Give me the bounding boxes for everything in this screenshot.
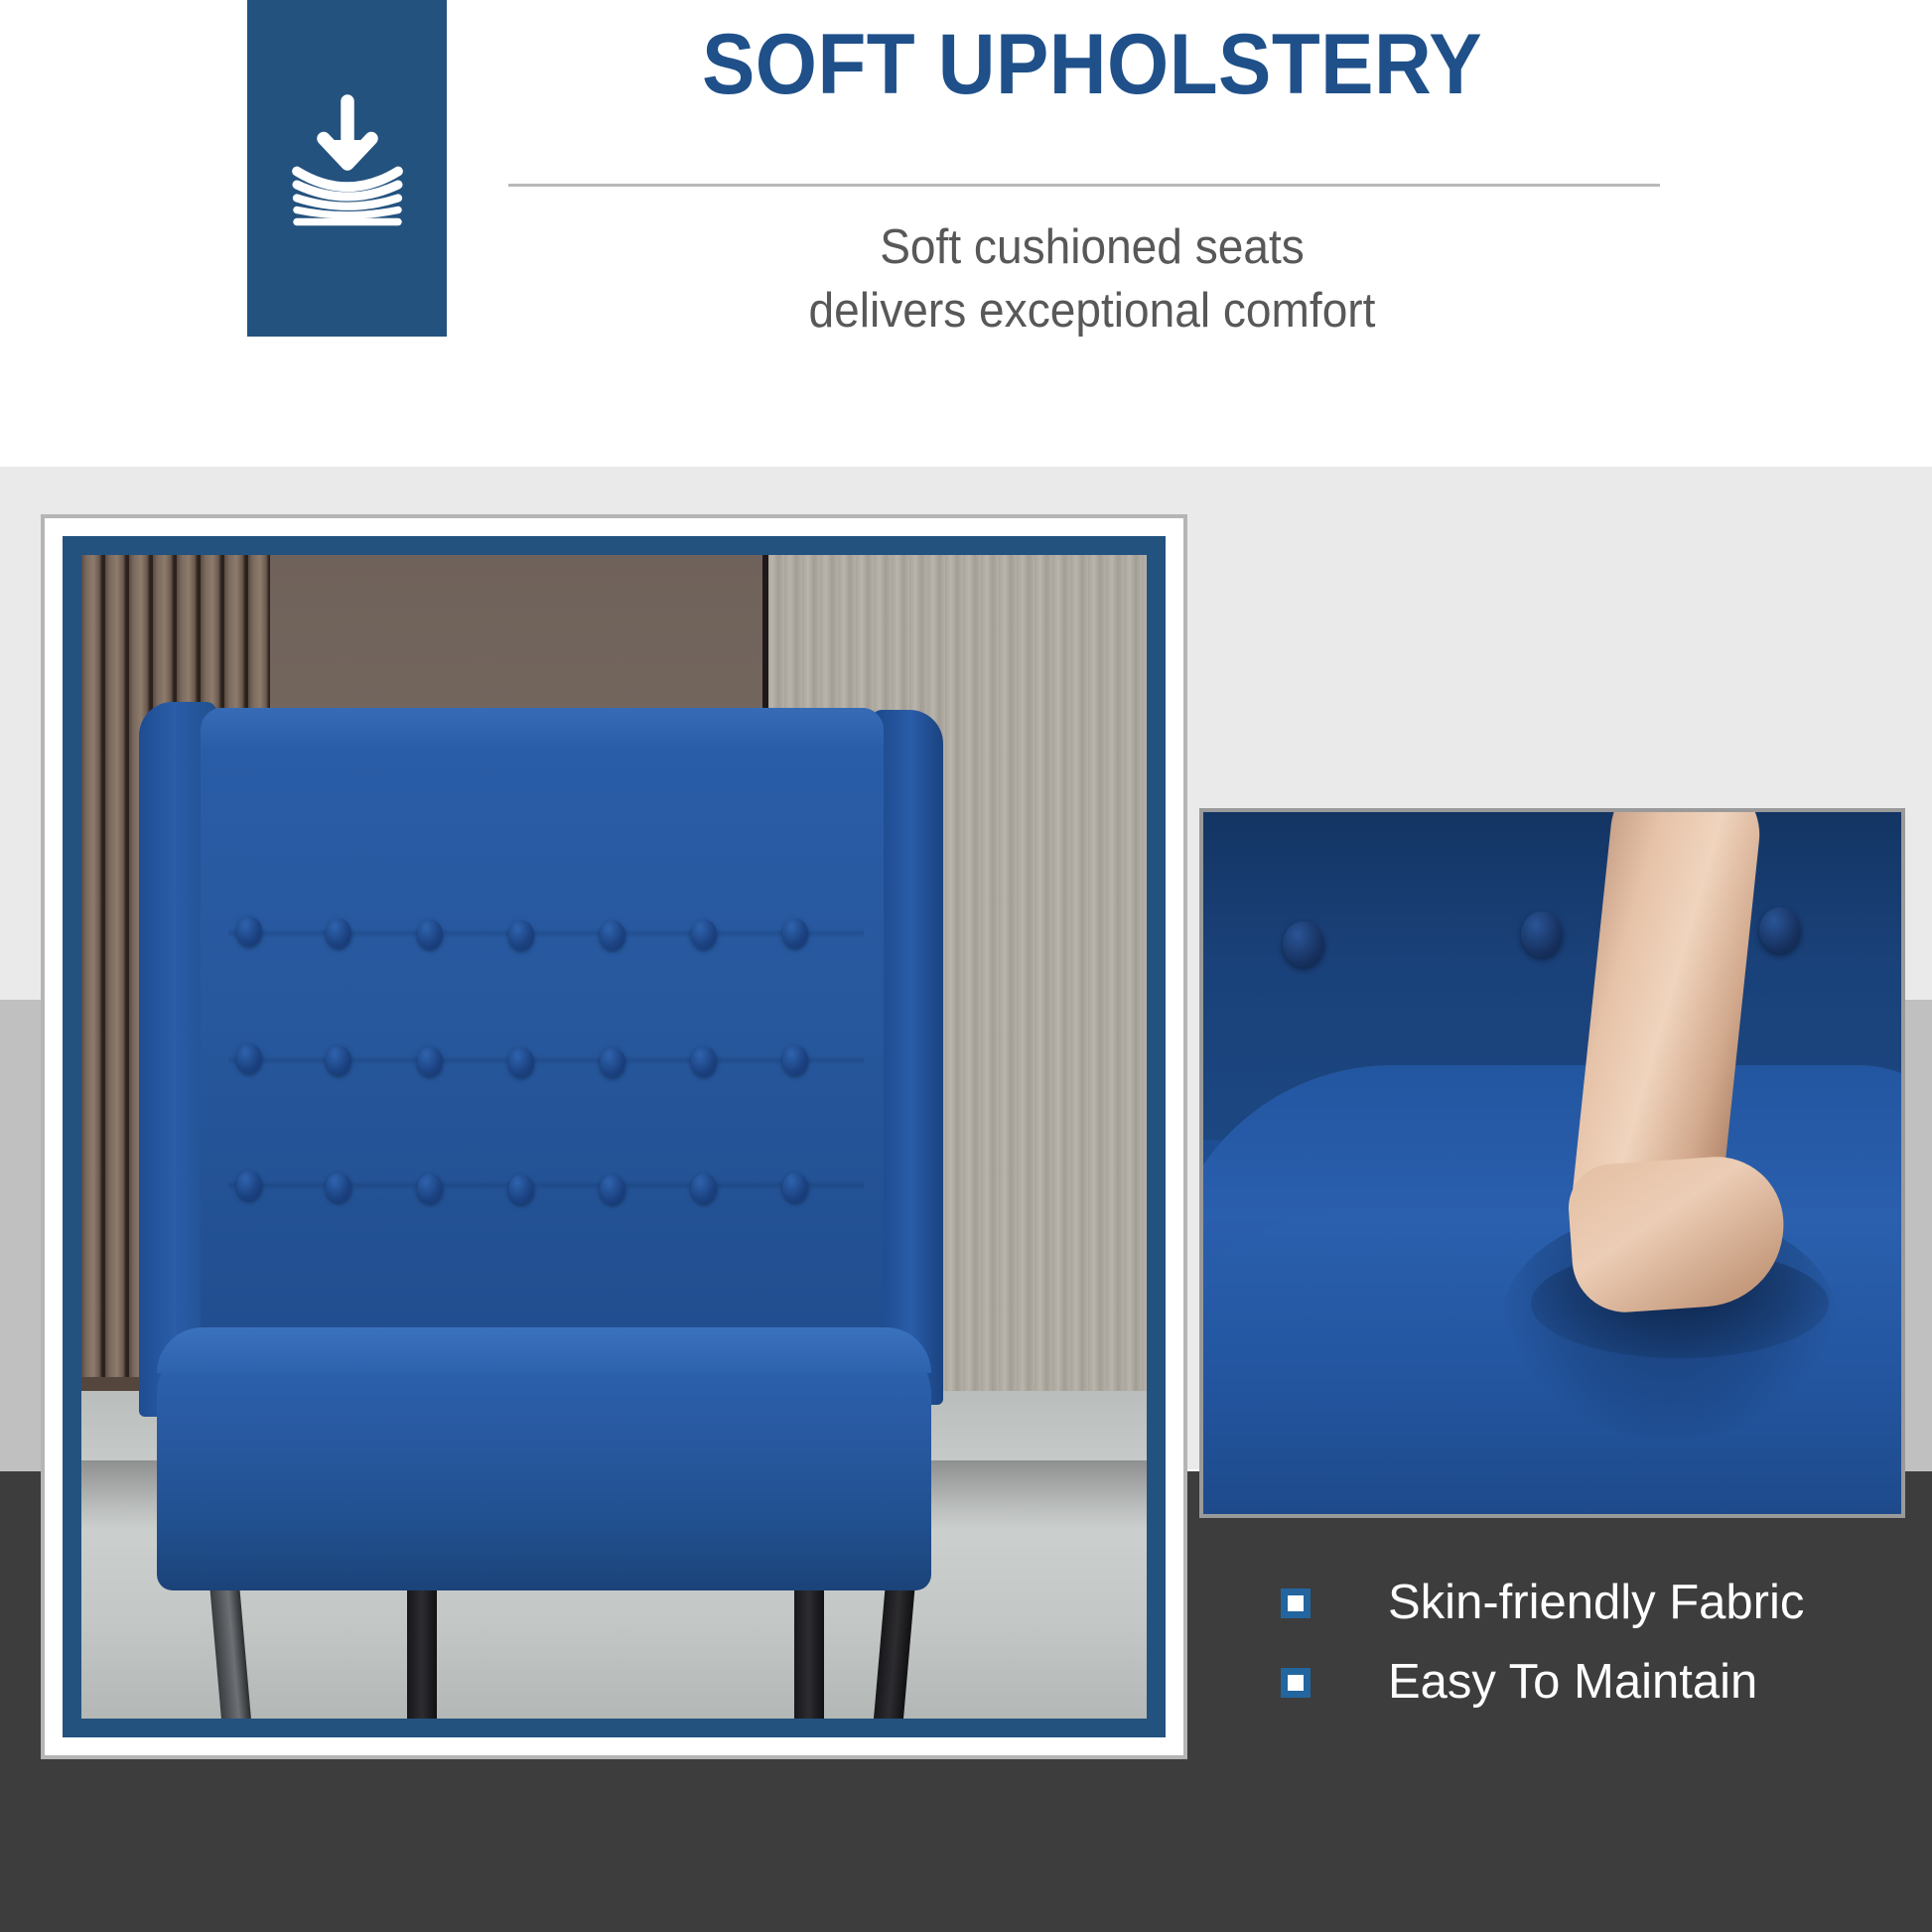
loveseat-sofa xyxy=(139,702,943,1595)
feature-label: Skin-friendly Fabric xyxy=(1388,1577,1804,1630)
tuft-button xyxy=(600,1047,625,1077)
tuft-button xyxy=(236,1171,262,1200)
tuft-button xyxy=(417,1046,443,1076)
tuft-button xyxy=(782,918,808,948)
tuft-button xyxy=(1521,911,1563,957)
square-bullet-icon xyxy=(1281,1588,1311,1618)
sofa-seat-front-roll xyxy=(157,1327,931,1373)
list-item: Easy To Maintain xyxy=(1281,1656,1896,1710)
subtitle-line-2: delivers exceptional comfort xyxy=(532,280,1652,344)
sofa-leg xyxy=(794,1582,824,1719)
sofa-backrest-top-roll xyxy=(201,708,884,748)
tuft-button xyxy=(1283,921,1324,967)
tuft-button xyxy=(326,1173,351,1202)
tuft-button xyxy=(508,1174,534,1204)
list-item: Skin-friendly Fabric xyxy=(1281,1577,1896,1630)
tuft-button xyxy=(600,1174,625,1204)
feature-label: Easy To Maintain xyxy=(1388,1656,1757,1710)
tuft-button xyxy=(417,1173,443,1203)
tuft-button xyxy=(782,1173,808,1202)
tuft-button xyxy=(326,918,351,948)
tuft-seam xyxy=(228,928,864,938)
sofa-leg xyxy=(407,1582,437,1719)
sofa-tufting-grid xyxy=(228,930,864,1308)
feature-icon-badge xyxy=(247,0,447,337)
tuft-button xyxy=(600,920,625,950)
tuft-button xyxy=(236,916,262,946)
tuft-button xyxy=(691,1173,717,1203)
tuft-button xyxy=(508,1047,534,1077)
tuft-seam xyxy=(228,1055,864,1065)
tuft-button xyxy=(236,1043,262,1073)
square-bullet-icon xyxy=(1281,1668,1311,1698)
feature-bullet-list: Skin-friendly Fabric Easy To Maintain xyxy=(1281,1577,1896,1735)
header-subtitle: Soft cushioned seats delivers exceptiona… xyxy=(532,216,1652,343)
main-product-photo xyxy=(81,555,1147,1719)
tuft-button xyxy=(691,919,717,949)
tuft-button xyxy=(1759,907,1801,953)
tuft-button xyxy=(782,1045,808,1075)
tuft-button xyxy=(691,1046,717,1076)
tuft-button xyxy=(508,920,534,950)
subtitle-line-1: Soft cushioned seats xyxy=(880,220,1305,274)
detail-closeup-photo xyxy=(1203,812,1901,1514)
page-title: SOFT UPHOLSTERY xyxy=(538,22,1646,107)
tuft-button xyxy=(417,919,443,949)
tuft-seam xyxy=(228,1180,864,1190)
cushion-press-icon xyxy=(273,89,422,238)
header-divider xyxy=(508,184,1660,187)
header-band: SOFT UPHOLSTERY Soft cushioned seats del… xyxy=(0,0,1932,467)
product-feature-card: SOFT UPHOLSTERY Soft cushioned seats del… xyxy=(0,0,1932,1932)
tuft-button xyxy=(326,1045,351,1075)
